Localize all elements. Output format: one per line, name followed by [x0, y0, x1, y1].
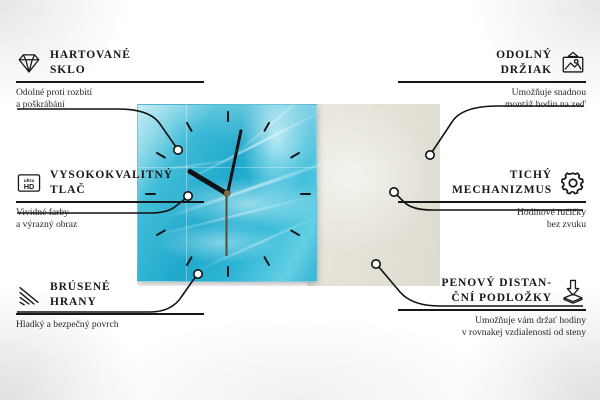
- feature-title: BRÚSENÉ HRANY: [50, 280, 111, 309]
- feature-ground-edges: BRÚSENÉ HRANY Hladký a bezpečný povrch: [16, 280, 204, 331]
- feature-title: PENOVÝ DISTAN- ČNÍ PODLOŽKY: [442, 276, 552, 305]
- feature-foam-spacers: PENOVÝ DISTAN- ČNÍ PODLOŽKY Umožňuje vám…: [398, 276, 586, 339]
- connector-right-1: [432, 106, 583, 152]
- feature-desc-line: v rovnakej vzdialenosti od steny: [398, 327, 586, 339]
- feature-divider: [398, 81, 586, 83]
- feature-desc-line: Hladký a bezpečný povrch: [16, 319, 204, 331]
- feature-title-line: VYSOKOKVALITNÝ: [50, 168, 173, 183]
- foam-pad-icon: [560, 278, 586, 304]
- clock-tick: [300, 193, 311, 195]
- feature-title: ODOLNÝ DRŽIAK: [496, 48, 552, 77]
- feature-title: VYSOKOKVALITNÝ TLAČ: [50, 168, 173, 197]
- clock-center-hub: [224, 190, 230, 196]
- feature-durable-hanger: ODOLNÝ DRŽIAK Umožňuje snadnou montáž ho…: [398, 48, 586, 111]
- clock-second-hand: [226, 194, 228, 256]
- feature-description: Odolné proti rozbití a poškrábání: [16, 87, 204, 112]
- feature-title: TICHÝ MECHANIZMUS: [452, 168, 552, 197]
- feature-description: Vividné farby a výrazný obraz: [16, 207, 204, 232]
- clock-minute-hand: [226, 129, 243, 194]
- feature-title-line: BRÚSENÉ: [50, 280, 111, 295]
- feature-description: Umožňuje snadnou montáž hodin na zeď: [398, 87, 586, 112]
- feature-title-line: HARTOVANÉ: [50, 48, 131, 63]
- clock-tick: [227, 111, 229, 122]
- clock-tick: [227, 266, 229, 277]
- picture-hanger-icon: [560, 50, 586, 76]
- svg-text:HD: HD: [24, 182, 35, 191]
- feature-title-line: ČNÍ PODLOŽKY: [442, 291, 552, 306]
- feature-description: Umožňuje vám držať hodiny v rovnakej vzd…: [398, 315, 586, 340]
- feature-hardened-glass: HARTOVANÉ SKLO Odolné proti rozbití a po…: [16, 48, 204, 111]
- feature-divider: [16, 313, 204, 315]
- feature-desc-line: a výrazný obraz: [16, 219, 204, 231]
- feature-description: Hladký a bezpečný povrch: [16, 319, 204, 331]
- feature-silent-mechanism: TICHÝ MECHANIZMUS Hodinové ručičky bez z…: [398, 168, 586, 231]
- feature-desc-line: Umožňuje snadnou: [398, 87, 586, 99]
- feature-divider: [398, 201, 586, 203]
- feature-divider: [16, 81, 204, 83]
- feature-desc-line: Odolné proti rozbití: [16, 87, 204, 99]
- feature-title-line: ODOLNÝ: [496, 48, 552, 63]
- feature-desc-line: montáž hodin na zeď: [398, 99, 586, 111]
- diamond-icon: [16, 50, 42, 76]
- feature-divider: [16, 201, 204, 203]
- clock-tick: [156, 152, 167, 159]
- gear-icon: [560, 170, 586, 196]
- ground-edges-icon: [16, 282, 42, 308]
- feature-title-line: HRANY: [50, 295, 111, 310]
- feature-title-line: PENOVÝ DISTAN-: [442, 276, 552, 291]
- feature-desc-line: Vividné farby: [16, 207, 204, 219]
- feature-desc-line: Hodinové ručičky: [398, 207, 586, 219]
- feature-desc-line: a poškrábání: [16, 99, 204, 111]
- clock-tick: [290, 152, 301, 159]
- feature-desc-line: bez zvuku: [398, 219, 586, 231]
- feature-title-line: TLAČ: [50, 183, 173, 198]
- feature-title-line: MECHANIZMUS: [452, 183, 552, 198]
- feature-title-line: SKLO: [50, 63, 131, 78]
- feature-title-line: DRŽIAK: [496, 63, 552, 78]
- feature-desc-line: Umožňuje vám držať hodiny: [398, 315, 586, 327]
- feature-high-quality-print: ultra HD VYSOKOKVALITNÝ TLAČ Vividné far…: [16, 168, 204, 231]
- ultra-hd-icon: ultra HD: [16, 170, 42, 196]
- feature-divider: [398, 309, 586, 311]
- feature-title: HARTOVANÉ SKLO: [50, 48, 131, 77]
- feature-description: Hodinové ručičky bez zvuku: [398, 207, 586, 232]
- clock-tick: [290, 229, 301, 236]
- feature-title-line: TICHÝ: [452, 168, 552, 183]
- clock-tick: [263, 256, 270, 267]
